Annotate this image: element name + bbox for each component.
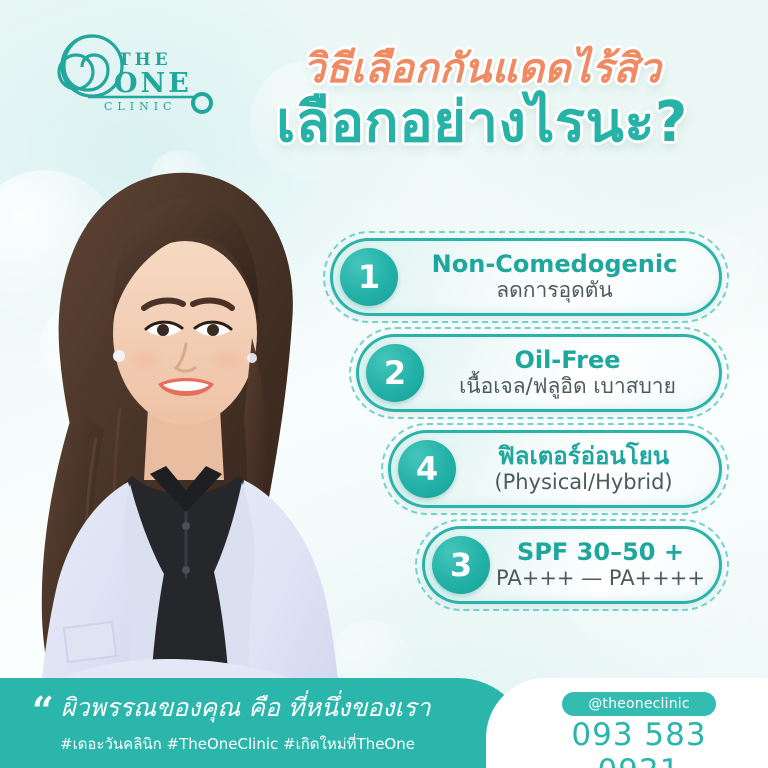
promo-poster: THE ONE CLINIC วิธีเลือกกันแดดไร้สิว เลื… [0,0,768,768]
feature-title: SPF 30–50 + [492,539,709,566]
brand-logo: THE ONE CLINIC [36,26,226,120]
bokeh-circle [0,170,120,320]
pill-body: 3 SPF 30–50 + PA+++ — PA++++ [422,526,722,604]
feature-list: 1 Non-Comedogenic ลดการอุดตัน 2 Oil-Free… [330,238,750,622]
footer-quote-block: “ ผิวพรรณของคุณ คือ ที่หนึ่งของเรา #เดอะ… [32,694,502,756]
feature-number-badge: 2 [366,344,424,402]
footer-hashtags: #เดอะวันคลินิก #TheOneClinic #เกิดใหม่ที… [60,732,502,756]
footer-quote: ผิวพรรณของคุณ คือ ที่หนึ่งของเรา [61,694,431,722]
model-photo [0,108,380,768]
footer: “ ผิวพรรณของคุณ คือ ที่หนึ่งของเรา #เดอะ… [0,678,768,768]
pill-body: 2 Oil-Free เนื้อเจล/ฟลูอิด เบาสบาย [356,334,722,412]
feature-text: SPF 30–50 + PA+++ — PA++++ [490,539,719,591]
feature-title: ฟิลเตอร์อ่อนโยน [458,443,709,470]
headline-line-1: วิธีเลือกกันแดดไร้สิว [222,48,742,90]
pill-body: 4 ฟิลเตอร์อ่อนโยน (Physical/Hybrid) [388,430,722,508]
feature-number-badge: 3 [432,536,490,594]
feature-subtitle: เนื้อเจล/ฟลูอิด เบาสบาย [426,375,709,399]
feature-item[interactable]: 4 ฟิลเตอร์อ่อนโยน (Physical/Hybrid) [388,430,722,508]
svg-text:THE: THE [118,50,172,70]
feature-item[interactable]: 3 SPF 30–50 + PA+++ — PA++++ [422,526,722,604]
headline: วิธีเลือกกันแดดไร้สิว เลือกอย่างไรนะ? [222,48,742,154]
bokeh-circle [150,150,210,210]
feature-text: Non-Comedogenic ลดการอุดตัน [398,251,719,303]
feature-subtitle: (Physical/Hybrid) [458,471,709,495]
feature-number-badge: 1 [340,248,398,306]
svg-text:CLINIC: CLINIC [104,100,176,113]
footer-contact-block: @theoneclinic 093 583 0921 [534,692,744,768]
svg-text:ONE: ONE [114,68,192,99]
phone-number[interactable]: 093 583 0921 [534,717,744,768]
feature-item[interactable]: 1 Non-Comedogenic ลดการอุดตัน [330,238,722,316]
feature-number-badge: 4 [398,440,456,498]
feature-text: Oil-Free เนื้อเจล/ฟลูอิด เบาสบาย [424,347,719,399]
pill-body: 1 Non-Comedogenic ลดการอุดตัน [330,238,722,316]
bokeh-circle [40,300,132,392]
feature-text: ฟิลเตอร์อ่อนโยน (Physical/Hybrid) [456,443,719,495]
feature-subtitle: PA+++ — PA++++ [492,567,709,591]
feature-title: Non-Comedogenic [400,251,709,278]
headline-line-2: เลือกอย่างไรนะ? [222,92,742,154]
feature-title: Oil-Free [426,347,709,374]
feature-subtitle: ลดการอุดตัน [400,279,709,303]
feature-item[interactable]: 2 Oil-Free เนื้อเจล/ฟลูอิด เบาสบาย [356,334,722,412]
quote-mark-icon: “ [32,694,54,728]
social-handle-badge[interactable]: @theoneclinic [562,692,716,716]
